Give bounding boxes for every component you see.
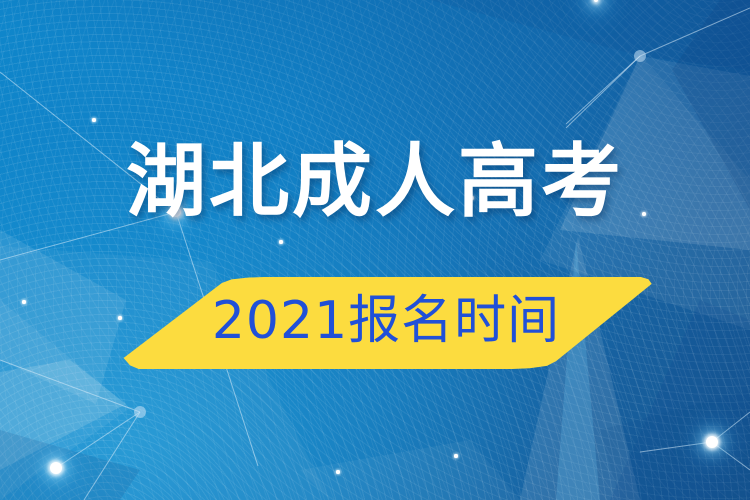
- promo-banner: 湖北成人高考 2021报名时间: [0, 0, 750, 500]
- line-right-node-up: [640, 8, 750, 56]
- subtitle-ribbon: 2021报名时间: [116, 277, 656, 369]
- dot-mid-left: [22, 300, 25, 303]
- node-soft-left: [134, 406, 146, 418]
- dot-top-left: [92, 118, 95, 121]
- ribbon-label: 2021报名时间: [116, 277, 656, 369]
- line-lowright-c: [640, 442, 712, 452]
- dot-low-center: [336, 470, 339, 473]
- node-lower-left: [50, 462, 62, 474]
- connector-line-layer: [0, 0, 750, 500]
- dot-low-right: [454, 454, 457, 457]
- dot-top-center: [279, 240, 282, 243]
- line-node-bottom-b: [56, 412, 140, 468]
- line-lowright-b: [712, 442, 750, 470]
- node-soft-right: [634, 50, 646, 62]
- line-right-node-down: [566, 56, 640, 128]
- line-node-bottom: [84, 412, 140, 500]
- node-right-lower: [706, 436, 718, 448]
- line-lowright-a: [712, 412, 750, 442]
- page-title: 湖北成人高考: [0, 138, 750, 226]
